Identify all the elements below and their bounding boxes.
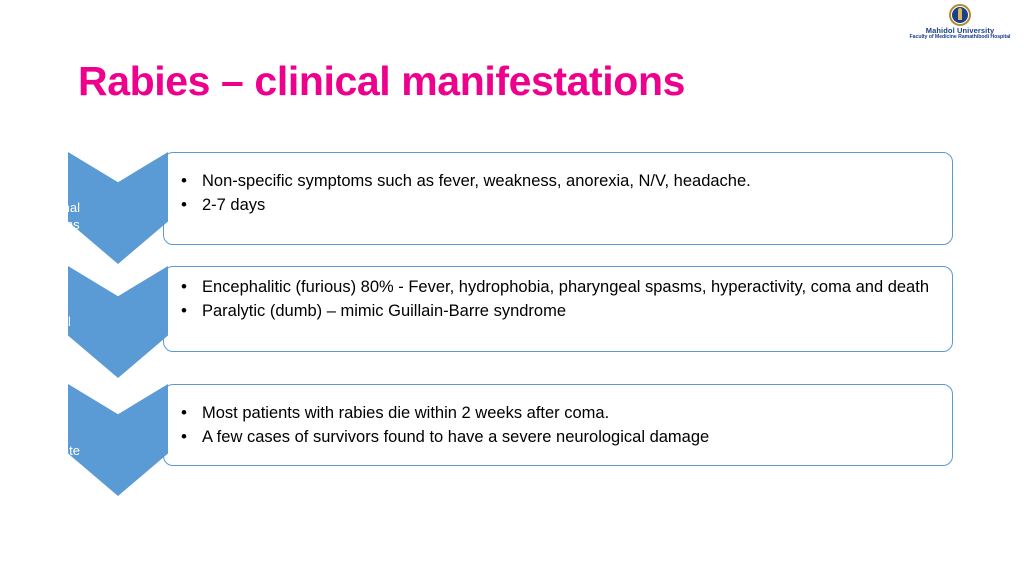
logo-faculty-name: Faculty of Medicine Ramathibodi Hospital (900, 35, 1020, 40)
stage-chevron-final-state (68, 384, 168, 496)
list-item: Encephalitic (furious) 80% - Fever, hydr… (176, 277, 946, 299)
stage-bullets-clinical-rabies: Encephalitic (furious) 80% - Fever, hydr… (176, 277, 946, 325)
list-item: A few cases of survivors found to have a… (176, 427, 946, 449)
stage-bullets-final-state: Most patients with rabies die within 2 w… (176, 403, 946, 451)
list-item: Most patients with rabies die within 2 w… (176, 403, 946, 425)
university-logo: Mahidol University Faculty of Medicine R… (900, 4, 1020, 40)
page-title: Rabies – clinical manifestations (78, 58, 685, 105)
mahidol-crest-icon (949, 4, 971, 26)
stage-chevron-clinical-rabies (68, 266, 168, 378)
stage-chevron-prodromal (68, 152, 168, 264)
list-item: Paralytic (dumb) – mimic Guillain-Barre … (176, 301, 946, 323)
list-item: Non-specific symptoms such as fever, wea… (176, 171, 946, 193)
stage-bullets-prodromal: Non-specific symptoms such as fever, wea… (176, 171, 946, 219)
list-item: 2-7 days (176, 195, 946, 217)
